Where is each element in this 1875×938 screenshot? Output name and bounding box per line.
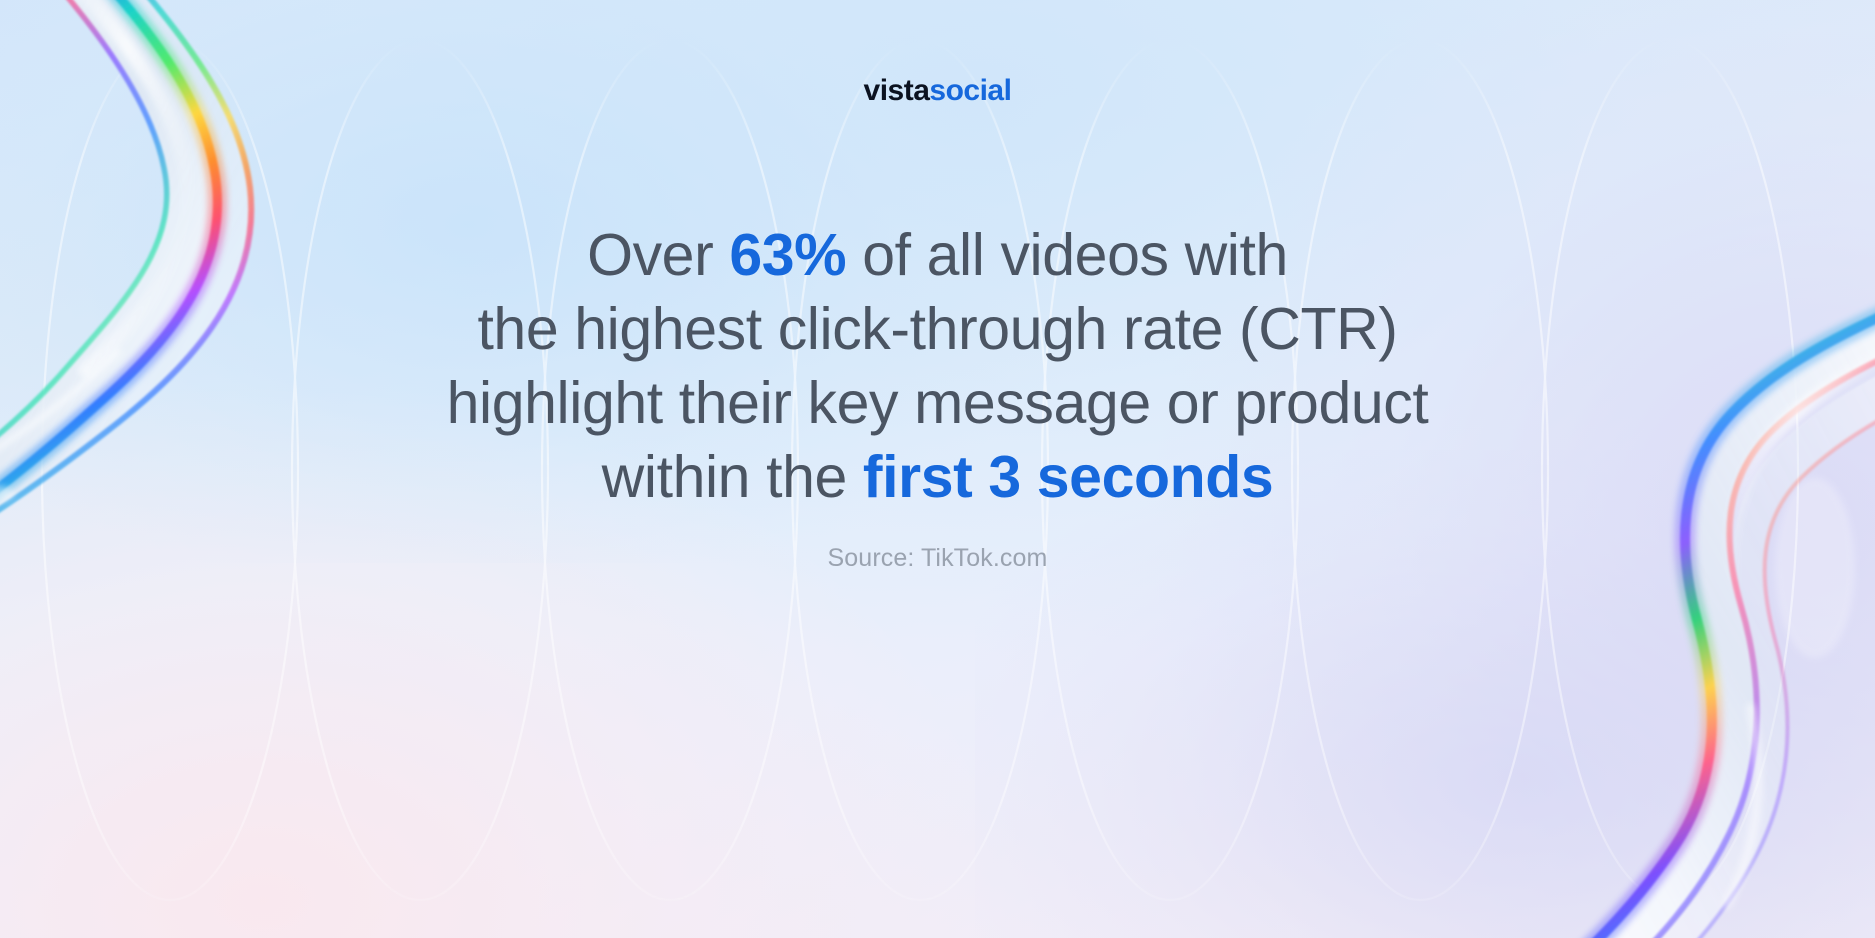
poster-canvas: vistasocial Over 63% of all videos with … xyxy=(0,0,1875,938)
source-attribution: Source: TikTok.com xyxy=(828,544,1048,573)
logo-text-social: social xyxy=(929,74,1011,107)
vistasocial-logo: vistasocial xyxy=(864,76,1012,106)
headline-highlight-percent: 63% xyxy=(729,222,846,288)
headline-line-1-suffix: of all videos with xyxy=(846,222,1288,288)
headline-line-1: Over 63% of all videos with xyxy=(358,218,1518,292)
headline-statistic: Over 63% of all videos with the highest … xyxy=(358,218,1518,514)
headline-line-3: highlight their key message or product xyxy=(358,366,1518,440)
headline-line-2: the highest click-through rate (CTR) xyxy=(358,292,1518,366)
headline-line-4: within the first 3 seconds xyxy=(358,440,1518,514)
logo-text-vista: vista xyxy=(864,74,930,107)
headline-line-1-prefix: Over xyxy=(587,222,729,288)
headline-line-4-prefix: within the xyxy=(602,444,863,510)
poster-content: vistasocial Over 63% of all videos with … xyxy=(0,0,1875,938)
headline-highlight-duration: first 3 seconds xyxy=(863,444,1273,510)
